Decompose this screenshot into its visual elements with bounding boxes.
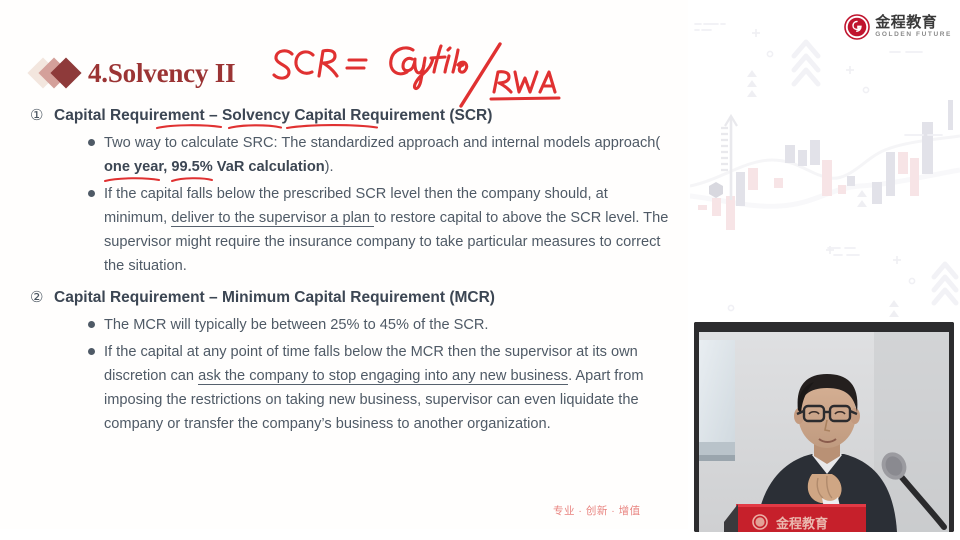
bullet-seg-var: VaR calculation <box>213 159 325 175</box>
section-1-number: ① <box>30 104 54 127</box>
brand-name-en: GOLDEN FUTURE <box>875 32 952 39</box>
section-2-title: Capital Requirement – Minimum Capital Re… <box>54 286 495 309</box>
bullet-dot-icon <box>88 321 95 328</box>
bullet-seg-one-year: one year, <box>104 159 167 175</box>
bullet-item: Two way to calculate SRC: The standardiz… <box>30 131 670 179</box>
bullet-seg-995: 99.5% <box>171 159 212 175</box>
bullet-dot-icon <box>88 139 95 146</box>
red-underline-requirement <box>286 123 378 130</box>
section-1-bullets: Two way to calculate SRC: The standardiz… <box>30 131 670 278</box>
red-underline-capital <box>228 123 282 130</box>
slide-body: ① Capital Requirement – Solvency Capital… <box>30 104 670 439</box>
section-2-bullets: The MCR will typically be between 25% to… <box>30 313 670 436</box>
bullet-seg-normal: Two way to calculate SRC: The standardiz… <box>104 135 660 151</box>
bullet-text: If the capital at any point of time fall… <box>88 340 670 436</box>
bullet-item: The MCR will typically be between 25% to… <box>30 313 670 337</box>
page-title: 4.Solvency II <box>88 58 235 89</box>
bullet-dot-icon <box>88 190 95 197</box>
brand-logo-text: 金程教育 GOLDEN FUTURE <box>875 15 952 39</box>
section-1-title: Capital Requirement – Solvency Capital R… <box>54 104 492 127</box>
section-1-title-text: Capital Requirement – Solvency Capital R… <box>54 107 492 124</box>
svg-text:金程教育: 金程教育 <box>775 516 828 532</box>
bullet-text: If the capital falls below the prescribe… <box>88 182 670 278</box>
section-2: ② Capital Requirement – Minimum Capital … <box>30 286 670 436</box>
section-1: ① Capital Requirement – Solvency Capital… <box>30 104 670 278</box>
section-2-number: ② <box>30 286 54 309</box>
webcam-video-feed[interactable]: 金程教育 <box>694 322 954 532</box>
bullet-text: Two way to calculate SRC: The standardiz… <box>88 131 670 179</box>
bullet-seg-one-year-text: one year, <box>104 159 167 175</box>
bullet-seg-995-text: 99.5% <box>171 159 212 175</box>
slide-footer-slogan: 专业 · 创新 · 增值 <box>553 503 641 518</box>
bullet-seg-close: ). <box>325 159 334 175</box>
bullet-seg-underlined: deliver to the supervisor a plan <box>171 210 374 227</box>
bullet-text: The MCR will typically be between 25% to… <box>88 313 488 337</box>
slide-panel: 4.Solvency II <box>0 0 688 540</box>
section-2-heading: ② Capital Requirement – Minimum Capital … <box>30 286 670 309</box>
bullet-item: If the capital falls below the prescribe… <box>30 182 670 278</box>
red-underline-solvency <box>156 123 222 130</box>
bullet-dot-icon <box>88 348 95 355</box>
bullet-item: If the capital at any point of time fall… <box>30 340 670 436</box>
slide-title-row: 4.Solvency II <box>32 52 235 94</box>
branding-panel: 金程教育 GOLDEN FUTURE <box>690 0 960 322</box>
diamond-bullet-icon <box>32 56 88 90</box>
brand-name-cn: 金程教育 <box>875 15 952 30</box>
brand-logo: 金程教育 GOLDEN FUTURE <box>844 14 952 40</box>
section-1-heading: ① Capital Requirement – Solvency Capital… <box>30 104 670 127</box>
candlestick-decoration <box>690 0 960 322</box>
seal-icon <box>844 14 870 40</box>
bullet-seg-underlined: ask the company to stop engaging into an… <box>198 368 568 385</box>
